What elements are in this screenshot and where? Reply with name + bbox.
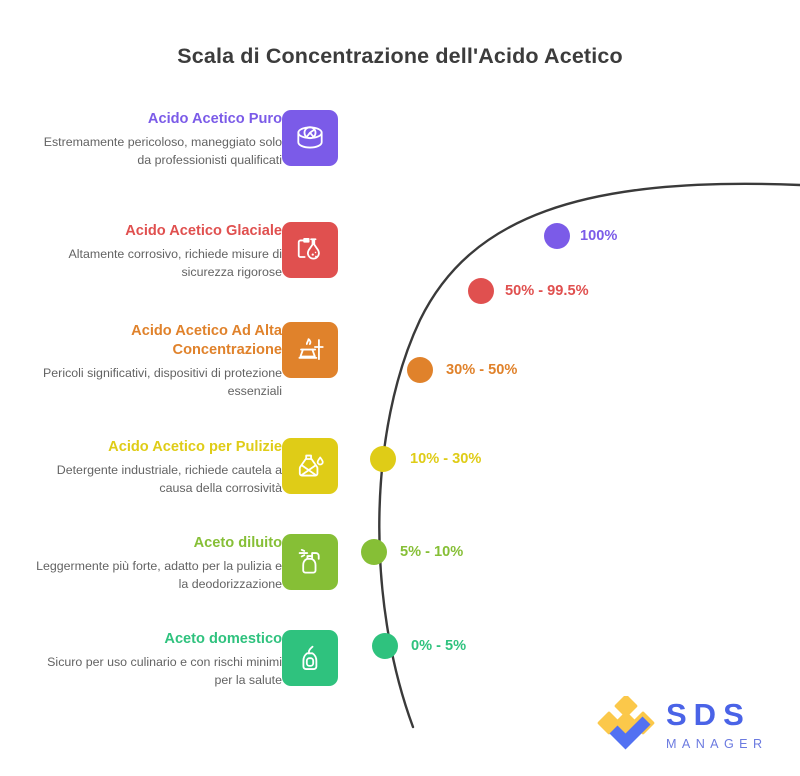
squeeze-bottle-icon — [282, 630, 338, 686]
scale-item-description: Detergente industriale, richiede cautela… — [34, 462, 282, 497]
drum-icon — [282, 110, 338, 166]
scale-item-text: Acido Acetico Glaciale Altamente corrosi… — [34, 222, 282, 281]
spray-bottle-icon — [282, 534, 338, 590]
scale-point-30-50[interactable] — [407, 357, 433, 383]
logo-subtitle: MANAGER — [666, 735, 767, 753]
logo-wordmark: SDS MANAGER — [666, 698, 767, 753]
burner-icon — [282, 322, 338, 378]
scale-point-label-5-10: 5% - 10% — [400, 544, 463, 560]
scale-item-description: Sicuro per uso culinario e con rischi mi… — [34, 654, 282, 689]
scale-point-label-50-99: 50% - 99.5% — [505, 283, 589, 299]
scale-item-title: Acido Acetico per Pulizie — [34, 438, 282, 457]
scale-item-description: Pericoli significativi, dispositivi di p… — [34, 365, 282, 400]
logo-title: SDS — [666, 698, 767, 732]
scale-item-text: Acido Acetico per Pulizie Detergente ind… — [34, 438, 282, 497]
scale-item-title: Aceto diluito — [34, 534, 282, 553]
scale-item-description: Altamente corrosivo, richiede misure di … — [34, 246, 282, 281]
scale-item-text: Aceto domestico Sicuro per uso culinario… — [34, 630, 282, 689]
scale-item-text: Aceto diluito Leggermente più forte, ada… — [34, 534, 282, 593]
logo-diamond-check-icon — [592, 696, 658, 760]
scale-item-title: Acido Acetico Ad Alta Concentrazione — [34, 322, 282, 360]
scale-point-0-5[interactable] — [372, 633, 398, 659]
page-title: Scala di Concentrazione dell'Acido Aceti… — [0, 44, 800, 69]
scale-point-label-100: 100% — [580, 228, 617, 244]
scale-point-label-0-5: 0% - 5% — [411, 638, 466, 654]
scale-item-description: Estremamente pericoloso, maneggiato solo… — [34, 134, 282, 169]
scale-item-text: Acido Acetico Puro Estremamente pericolo… — [34, 110, 282, 169]
scale-point-50-99[interactable] — [468, 278, 494, 304]
jerrycan-icon — [282, 438, 338, 494]
sds-manager-logo[interactable]: SDS MANAGER — [592, 694, 788, 766]
flask-clipboard-icon — [282, 222, 338, 278]
scale-point-label-10-30: 10% - 30% — [410, 451, 481, 467]
scale-item-description: Leggermente più forte, adatto per la pul… — [34, 558, 282, 593]
scale-point-label-30-50: 30% - 50% — [446, 362, 517, 378]
infographic-root: Scala di Concentrazione dell'Acido Aceti… — [0, 0, 800, 776]
scale-point-5-10[interactable] — [361, 539, 387, 565]
scale-item-title: Acido Acetico Puro — [34, 110, 282, 129]
scale-item-title: Aceto domestico — [34, 630, 282, 649]
scale-item-text: Acido Acetico Ad Alta Concentrazione Per… — [34, 322, 282, 400]
scale-point-10-30[interactable] — [370, 446, 396, 472]
scale-point-100[interactable] — [544, 223, 570, 249]
scale-item-title: Acido Acetico Glaciale — [34, 222, 282, 241]
